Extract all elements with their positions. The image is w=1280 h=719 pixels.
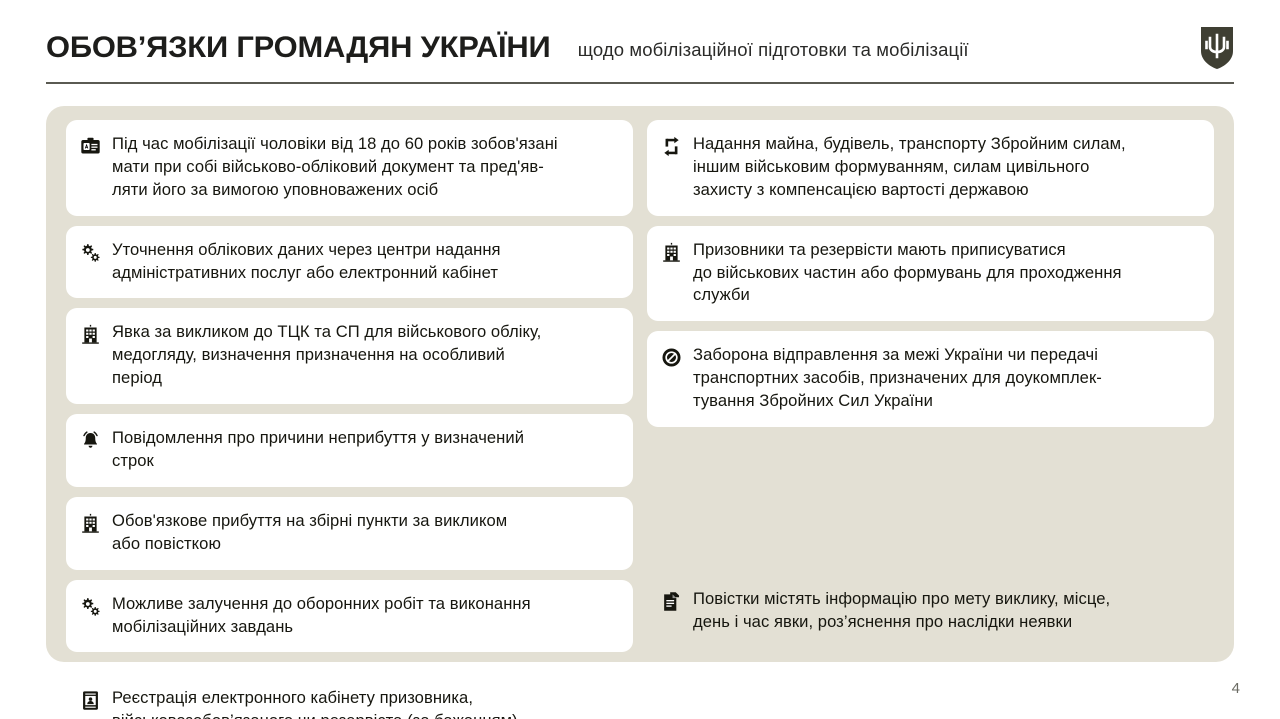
- building-icon: [80, 513, 101, 534]
- page-number: 4: [1232, 680, 1240, 697]
- transfer-arrows-icon: [661, 136, 682, 157]
- prohibition-icon: [661, 347, 682, 368]
- duties-columns: Під час мобілізації чоловіки від 18 до 6…: [66, 120, 1214, 648]
- duty-card: Обов'язкове прибуття на збірні пункти за…: [66, 497, 633, 570]
- duty-card: Можливе залучення до оборонних робіт та …: [66, 580, 633, 653]
- duty-text: Повідомлення про причини неприбуття у ви…: [112, 427, 524, 473]
- left-duty-column: Під час мобілізації чоловіки від 18 до 6…: [66, 120, 633, 648]
- duty-card: Уточнення облікових даних через центри н…: [66, 226, 633, 299]
- gears-icon: [80, 242, 101, 263]
- duty-card: Надання майна, будівель, транспорту Збро…: [647, 120, 1214, 216]
- document-icon: [661, 591, 682, 612]
- duty-text: Реєстрація електронного кабінету призовн…: [112, 687, 518, 719]
- duty-text: Обов'язкове прибуття на збірні пункти за…: [112, 510, 507, 556]
- duty-text: Уточнення облікових даних через центри н…: [112, 239, 501, 285]
- duty-card: Призовники та резервісти мають приписува…: [647, 226, 1214, 322]
- bell-icon: [80, 430, 101, 451]
- duty-row: Повістки містять інформацію про мету вик…: [647, 573, 1214, 648]
- duty-text: Повістки містять інформацію про мету вик…: [693, 588, 1110, 634]
- page-title: ОБОВ’ЯЗКИ ГРОМАДЯН УКРАЇНИ: [46, 33, 550, 63]
- personal-id-icon: [80, 690, 101, 711]
- header-divider: [46, 82, 1234, 84]
- ukraine-trident-shield-icon: [1200, 26, 1234, 70]
- duty-card: Заборона відправлення за межі України чи…: [647, 331, 1214, 427]
- header-content: ОБОВ’ЯЗКИ ГРОМАДЯН УКРАЇНИ щодо мобіліза…: [46, 22, 1234, 74]
- duty-text: Заборона відправлення за межі України чи…: [693, 344, 1102, 413]
- duty-row: Реєстрація електронного кабінету призовн…: [66, 672, 633, 719]
- duty-text: Можливе залучення до оборонних робіт та …: [112, 593, 531, 639]
- right-duty-column: Надання майна, будівель, транспорту Збро…: [647, 120, 1214, 648]
- duty-text: Явка за викликом до ТЦК та СП для військ…: [112, 321, 541, 390]
- id-card-icon: [80, 136, 101, 157]
- duty-text: Надання майна, будівель, транспорту Збро…: [693, 133, 1126, 202]
- duty-card: Повідомлення про причини неприбуття у ви…: [66, 414, 633, 487]
- duty-text: Призовники та резервісти мають приписува…: [693, 239, 1122, 308]
- building-icon: [661, 242, 682, 263]
- duties-panel: Під час мобілізації чоловіки від 18 до 6…: [46, 106, 1234, 662]
- page-subtitle: щодо мобілізаційної підготовки та мобілі…: [578, 35, 969, 61]
- column-spacer: [647, 437, 1214, 563]
- gears-icon: [80, 596, 101, 617]
- duty-card: Під час мобілізації чоловіки від 18 до 6…: [66, 120, 633, 216]
- duty-text: Під час мобілізації чоловіки від 18 до 6…: [112, 133, 558, 202]
- duty-card: Явка за викликом до ТЦК та СП для військ…: [66, 308, 633, 404]
- slide-header: ОБОВ’ЯЗКИ ГРОМАДЯН УКРАЇНИ щодо мобіліза…: [0, 0, 1280, 90]
- building-icon: [80, 324, 101, 345]
